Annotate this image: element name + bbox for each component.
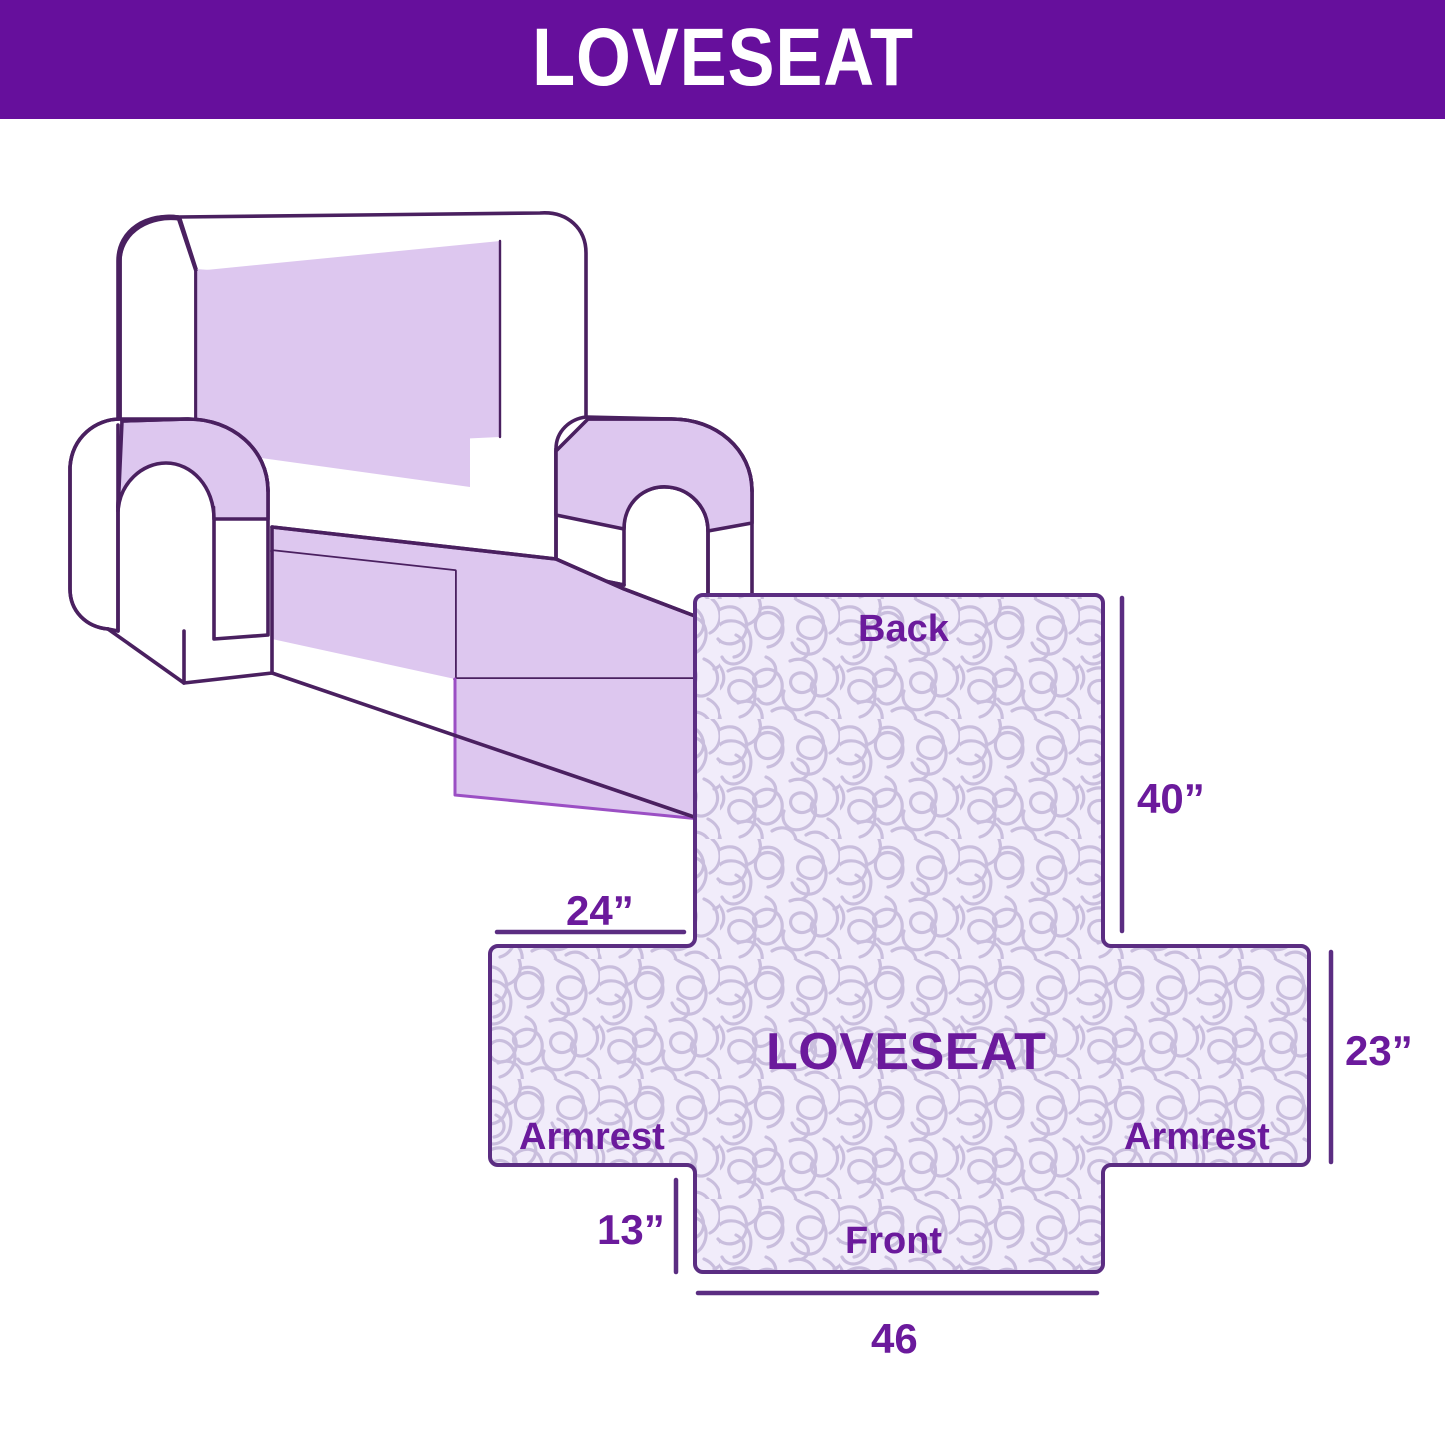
panel-label-front: Front <box>845 1222 942 1260</box>
loveseat-illustration <box>70 213 752 819</box>
dimension-label-back-height: 40” <box>1137 778 1205 820</box>
dimension-label-back-width: 24” <box>566 890 634 932</box>
dimension-label-armrest-depth: 23” <box>1345 1030 1413 1072</box>
panel-label-armrest-right: Armrest <box>1124 1118 1270 1156</box>
dimension-label-overall-width: 46 <box>871 1318 918 1360</box>
panel-label-armrest-left: Armrest <box>519 1118 665 1156</box>
panel-label-back: Back <box>858 610 949 648</box>
page-title: LOVESEAT <box>532 17 914 99</box>
header-banner: LOVESEAT <box>0 0 1445 119</box>
dimension-label-front-skirt: 13” <box>597 1209 665 1251</box>
panel-label-center: LOVESEAT <box>766 1026 1046 1078</box>
diagram-stage <box>0 119 1445 1445</box>
